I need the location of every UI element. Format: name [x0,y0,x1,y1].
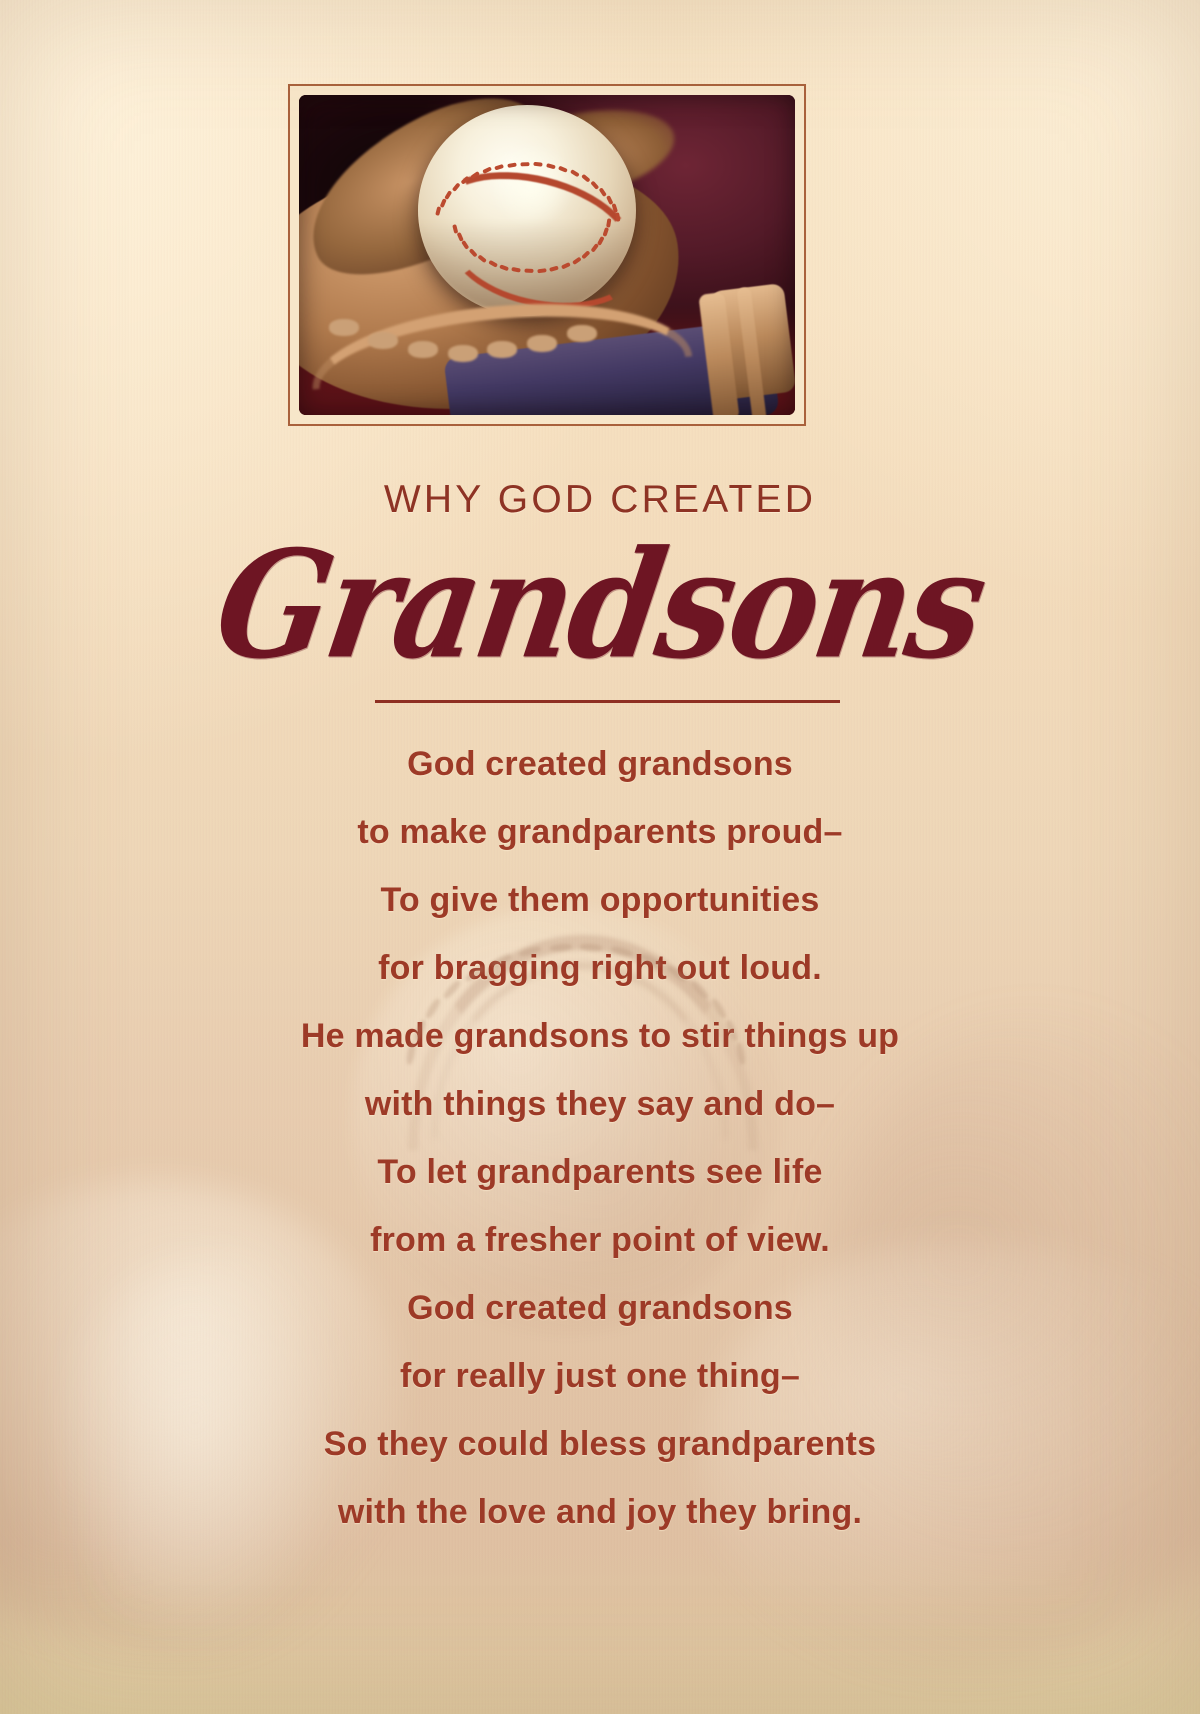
paper-vignette [0,0,1200,1714]
greeting-card: WHY GOD CREATED Grandsons God created gr… [0,0,1200,1714]
